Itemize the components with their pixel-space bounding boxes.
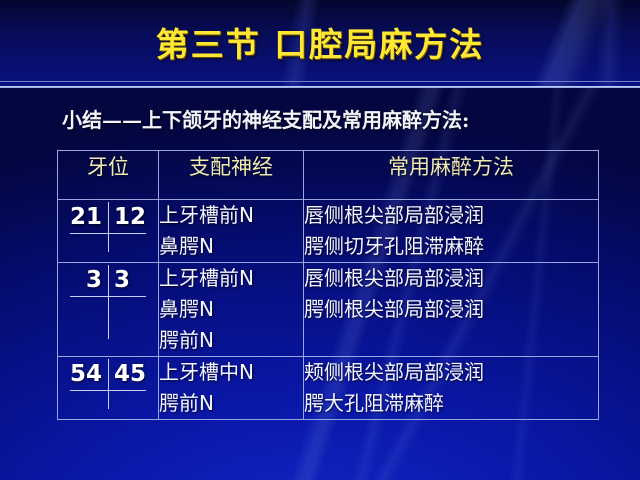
nerve-line: 上牙槽前N <box>159 263 303 294</box>
anesthesia-method-cell: 唇侧根尖部局部浸润 腭侧切牙孔阻滞麻醉 <box>304 200 599 263</box>
nerve-supply-cell: 上牙槽中N 腭前N <box>159 357 304 420</box>
dental-quadrant-cross: 21 12 <box>58 200 158 232</box>
tooth-number-left: 21 <box>64 203 108 232</box>
nerve-supply-cell: 上牙槽前N 鼻腭N <box>159 200 304 263</box>
nerve-line: 鼻腭N <box>159 231 303 262</box>
dental-quadrant-cross: 3 3 <box>58 263 158 295</box>
method-line: 颊侧根尖部局部浸润 <box>304 357 598 388</box>
nerve-line: 鼻腭N <box>159 294 303 325</box>
column-header-nerve-supply: 支配神经 <box>159 151 304 200</box>
anesthesia-method-cell: 唇侧根尖部局部浸润 腭侧根尖部局部浸润 <box>304 263 599 357</box>
tooth-notation-cell: 54 45 <box>58 357 159 420</box>
title-divider-thin <box>0 81 640 82</box>
column-header-anesthesia-method: 常用麻醉方法 <box>304 151 599 200</box>
slide-subtitle: 小结——上下颌牙的神经支配及常用麻醉方法: <box>62 104 469 133</box>
quadrant-vertical-line <box>108 202 109 252</box>
nerve-supply-cell: 上牙槽前N 鼻腭N 腭前N <box>159 263 304 357</box>
quadrant-vertical-line <box>108 359 109 409</box>
method-line: 唇侧根尖部局部浸润 <box>304 263 598 294</box>
nerve-line: 上牙槽前N <box>159 200 303 231</box>
table-body: 21 12 上牙槽前N 鼻腭N 唇侧根尖部局部浸润 腭侧切牙孔阻滞麻醉 <box>58 200 599 420</box>
tooth-number-right: 45 <box>108 360 152 389</box>
nerve-line: 腭前N <box>159 325 303 356</box>
table-row: 21 12 上牙槽前N 鼻腭N 唇侧根尖部局部浸润 腭侧切牙孔阻滞麻醉 <box>58 200 599 263</box>
tooth-number-right: 3 <box>108 266 152 295</box>
table-head: 牙位 支配神经 常用麻醉方法 <box>58 151 599 200</box>
column-header-tooth-position: 牙位 <box>58 151 159 200</box>
method-line: 腭侧切牙孔阻滞麻醉 <box>304 231 598 262</box>
method-line: 唇侧根尖部局部浸润 <box>304 200 598 231</box>
slide-canvas: 第三节 口腔局麻方法 小结——上下颌牙的神经支配及常用麻醉方法: 牙位 支配神经… <box>0 0 640 480</box>
summary-table: 牙位 支配神经 常用麻醉方法 21 12 <box>57 150 599 420</box>
table-header-row: 牙位 支配神经 常用麻醉方法 <box>58 151 599 200</box>
slide-title: 第三节 口腔局麻方法 <box>0 18 640 66</box>
quadrant-vertical-line <box>108 265 109 339</box>
title-divider-thick <box>0 86 640 88</box>
anesthesia-method-cell: 颊侧根尖部局部浸润 腭大孔阻滞麻醉 <box>304 357 599 420</box>
dental-quadrant-cross: 54 45 <box>58 357 158 389</box>
method-line: 腭大孔阻滞麻醉 <box>304 388 598 419</box>
tooth-number-left: 3 <box>64 266 108 295</box>
tooth-notation-cell: 21 12 <box>58 200 159 263</box>
nerve-line: 上牙槽中N <box>159 357 303 388</box>
method-line: 腭侧根尖部局部浸润 <box>304 294 598 325</box>
tooth-notation-cell: 3 3 <box>58 263 159 357</box>
table-row: 3 3 上牙槽前N 鼻腭N 腭前N 唇侧根尖部局部浸润 腭侧根尖部局部浸润 <box>58 263 599 357</box>
tooth-number-left: 54 <box>64 360 108 389</box>
table-row: 54 45 上牙槽中N 腭前N 颊侧根尖部局部浸润 腭大孔阻滞麻醉 <box>58 357 599 420</box>
nerve-line: 腭前N <box>159 388 303 419</box>
tooth-number-right: 12 <box>108 203 152 232</box>
